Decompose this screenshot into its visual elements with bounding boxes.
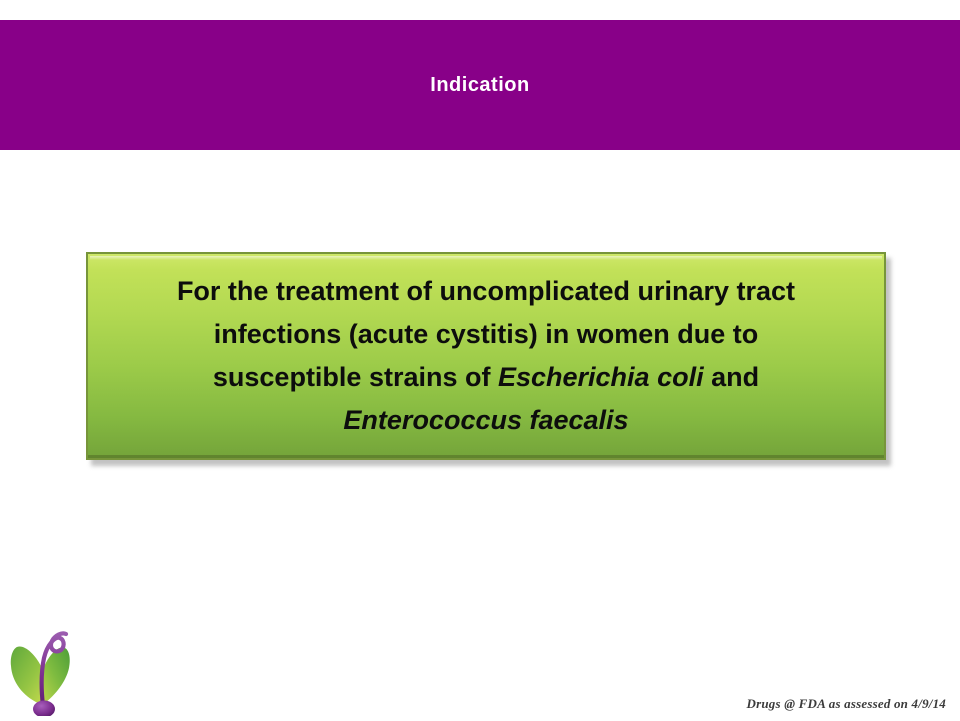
indication-line: susceptible strains of Escherichia coli …	[97, 356, 875, 399]
callout-box: For the treatment of uncomplicated urina…	[86, 252, 886, 460]
sprout-plant-logo	[8, 616, 92, 716]
species-name: Escherichia coli	[498, 362, 704, 392]
indication-line: infections (acute cystitis) in women due…	[97, 313, 875, 356]
slide-header-band: Indication	[0, 20, 960, 150]
sprout-plant-logo-svg	[8, 616, 92, 716]
page-title: Indication	[0, 20, 960, 150]
indication-text: For the treatment of uncomplicated urina…	[91, 270, 881, 442]
indication-line: Enterococcus faecalis	[97, 399, 875, 442]
indication-callout: For the treatment of uncomplicated urina…	[86, 252, 886, 460]
indication-line: For the treatment of uncomplicated urina…	[97, 270, 875, 313]
source-note: Drugs @ FDA as assessed on 4/9/14	[747, 696, 946, 712]
presentation-slide: Indication For the treatment of uncompli…	[0, 0, 960, 720]
seed-circle-icon	[33, 701, 55, 717]
indication-text-segment: For the treatment of uncomplicated urina…	[177, 276, 795, 306]
indication-text-segment: and	[704, 362, 760, 392]
indication-text-segment: susceptible strains of	[213, 362, 498, 392]
species-name: Enterococcus faecalis	[343, 405, 628, 435]
indication-text-segment: infections (acute cystitis) in women due…	[214, 319, 759, 349]
